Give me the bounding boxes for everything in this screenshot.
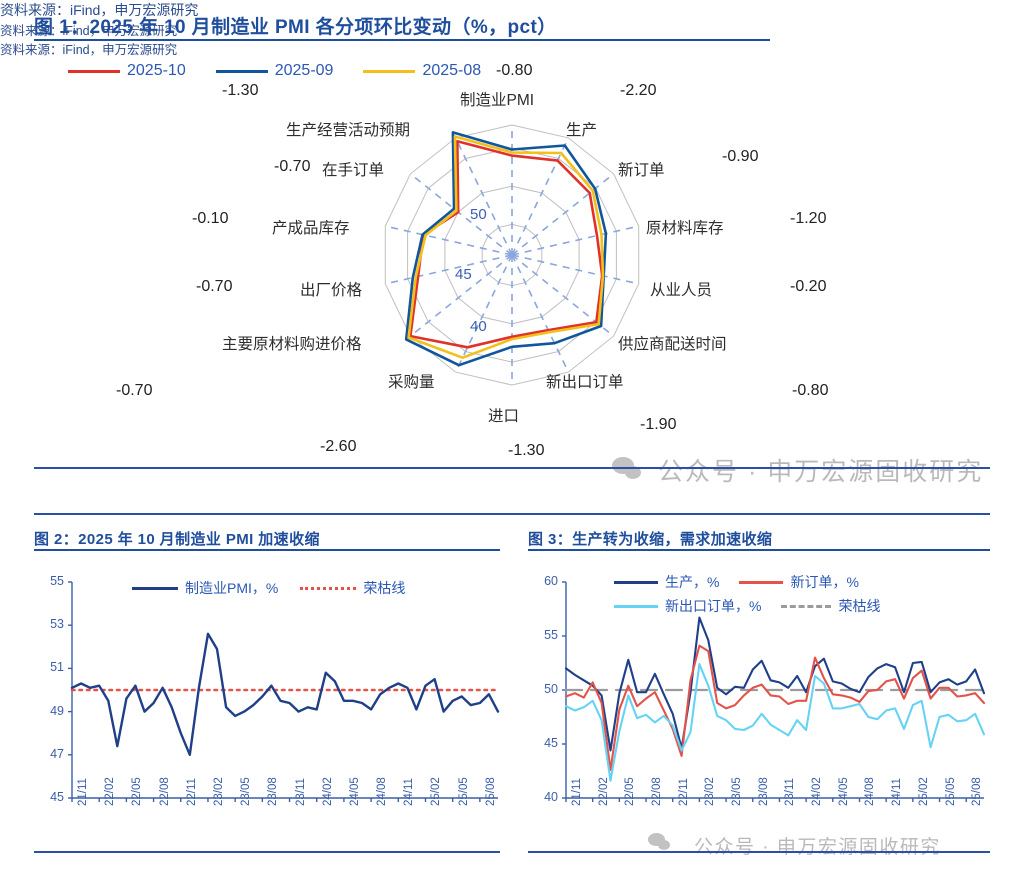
x-tick-label: 25/05: [945, 777, 957, 806]
y-tick-label: 55: [36, 574, 64, 588]
radar-axis-label-13: 生产经营活动预期: [286, 118, 410, 140]
radar-axis-label-2: 新订单: [618, 158, 665, 180]
y-tick-label: 51: [36, 660, 64, 674]
x-tick-label: 25/02: [430, 777, 442, 806]
radar-chart: 504540制造业PMI生产新订单原材料库存从业人员供应商配送时间新出口订单进口…: [0, 70, 1024, 460]
legend-item-荣枯线: 荣枯线: [781, 596, 880, 616]
x-tick-label: 22/05: [624, 777, 636, 806]
radar-axis-label-10: 出厂价格: [300, 278, 362, 300]
x-tick-label: 22/08: [159, 777, 171, 806]
figure3-legend: 生产，%新订单，%新出口订单，%荣枯线: [614, 572, 994, 616]
radar-axis-label-8: 采购量: [388, 370, 435, 392]
x-tick-label: 24/02: [322, 777, 334, 806]
x-tick-label: 23/08: [758, 777, 770, 806]
x-tick-label: 24/11: [891, 778, 903, 806]
x-tick-label: 25/08: [971, 777, 983, 806]
radar-change-value-9: -0.70: [116, 382, 152, 400]
x-tick-label: 24/11: [403, 778, 415, 806]
radar-plot: [0, 70, 1024, 460]
legend-item-生产，%: 生产，%: [614, 572, 719, 592]
figure1-title-block: 图 1：2025 年 10 月制造业 PMI 各分项环比变动（%，pct）: [34, 12, 770, 41]
radar-change-value-12: -0.70: [274, 158, 310, 176]
x-tick-label: 22/02: [104, 777, 116, 806]
figure3-title-block: 图 3：生产转为收缩，需求加速收缩: [528, 528, 990, 551]
radar-axis-label-5: 供应商配送时间: [618, 332, 727, 354]
radar-axis-label-7: 进口: [488, 404, 519, 426]
figure3-title: 图 3：生产转为收缩，需求加速收缩: [528, 528, 990, 551]
radar-axis-label-1: 生产: [566, 118, 597, 140]
legend-item-制造业PMI，%: 制造业PMI，%: [132, 578, 278, 598]
y-tick-label: 49: [36, 704, 64, 718]
radar-ring-label-45: 45: [455, 266, 472, 283]
figure1-title: 图 1：2025 年 10 月制造业 PMI 各分项环比变动（%，pct）: [34, 12, 770, 41]
divider-figure2: [34, 851, 500, 853]
figure2-title-block: 图 2：2025 年 10 月制造业 PMI 加速收缩: [34, 528, 500, 551]
x-tick-label: 24/08: [376, 777, 388, 806]
x-tick-label: 23/02: [213, 777, 225, 806]
x-tick-label: 25/08: [485, 777, 497, 806]
x-tick-label: 23/11: [784, 778, 796, 806]
divider-figure1: [34, 467, 990, 469]
x-tick-label: 23/11: [295, 778, 307, 806]
y-tick-label: 45: [530, 736, 558, 750]
legend-item-荣枯线: 荣枯线: [300, 578, 405, 598]
legend-label: 新出口订单，%: [665, 596, 761, 616]
legend-label: 生产，%: [665, 572, 719, 592]
radar-axis-label-11: 产成品库存: [272, 216, 350, 238]
divider-figure3: [528, 851, 990, 853]
radar-change-value-7: -1.30: [508, 442, 544, 460]
divider-below-source1: [34, 513, 990, 515]
legend-swatch-icon: [300, 587, 356, 590]
legend-label: 荣枯线: [363, 578, 405, 598]
x-tick-label: 23/08: [267, 777, 279, 806]
x-tick-label: 23/05: [240, 777, 252, 806]
x-tick-label: 22/02: [598, 777, 610, 806]
radar-change-value-6: -1.90: [640, 416, 676, 434]
radar-change-value-11: -0.10: [192, 210, 228, 228]
radar-change-value-10: -0.70: [196, 278, 232, 296]
legend-swatch-icon: [614, 605, 658, 608]
y-tick-label: 45: [36, 790, 64, 804]
x-tick-label: 22/08: [651, 777, 663, 806]
x-tick-label: 24/02: [811, 777, 823, 806]
legend-label: 制造业PMI，%: [185, 578, 278, 598]
x-tick-label: 22/11: [678, 778, 690, 806]
radar-axis-label-0: 制造业PMI: [460, 88, 534, 110]
radar-change-value-5: -0.80: [792, 382, 828, 400]
legend-swatch-icon: [781, 605, 831, 608]
x-tick-label: 23/02: [704, 777, 716, 806]
y-tick-label: 47: [36, 747, 64, 761]
x-tick-label: 23/05: [731, 777, 743, 806]
radar-ring-label-40: 40: [470, 318, 487, 335]
legend-label: 荣枯线: [838, 596, 880, 616]
x-tick-label: 22/11: [186, 778, 198, 806]
radar-change-value-8: -2.60: [320, 438, 356, 456]
x-tick-label: 21/11: [571, 778, 583, 806]
radar-axis-label-6: 新出口订单: [546, 370, 624, 392]
y-tick-label: 40: [530, 790, 558, 804]
y-tick-label: 53: [36, 617, 64, 631]
legend-swatch-icon: [132, 587, 178, 590]
x-tick-label: 24/08: [864, 777, 876, 806]
radar-axis-label-12: 在手订单: [322, 158, 384, 180]
radar-change-value-13: -1.30: [222, 82, 258, 100]
y-tick-label: 55: [530, 628, 558, 642]
y-tick-label: 50: [530, 682, 558, 696]
radar-change-value-2: -0.90: [722, 148, 758, 166]
legend-swatch-icon: [614, 581, 658, 584]
x-tick-label: 25/02: [918, 777, 930, 806]
figure2-chart: 45474951535521/1122/0222/0522/0822/1123/…: [36, 570, 506, 860]
x-tick-label: 24/05: [838, 777, 850, 806]
legend-label: 新订单，%: [790, 572, 858, 592]
figure2-title: 图 2：2025 年 10 月制造业 PMI 加速收缩: [34, 528, 500, 551]
radar-axis-label-9: 主要原材料购进价格: [222, 332, 362, 354]
radar-axis-label-4: 从业人员: [650, 278, 712, 300]
legend-item-新出口订单，%: 新出口订单，%: [614, 596, 761, 616]
x-tick-label: 25/05: [458, 777, 470, 806]
radar-change-value-4: -0.20: [790, 278, 826, 296]
radar-axis-label-3: 原材料库存: [646, 216, 724, 238]
figure2-plot: [36, 570, 506, 860]
legend-swatch-icon: [739, 581, 783, 584]
radar-ring-label-50: 50: [470, 206, 487, 223]
figure3-source: 资料来源：iFind，申万宏源研究: [0, 39, 1024, 58]
legend-item-新订单，%: 新订单，%: [739, 572, 858, 592]
x-tick-label: 22/05: [131, 777, 143, 806]
figure3-chart: 404550556021/1122/0222/0522/0822/1123/02…: [530, 570, 992, 860]
figure2-legend: 制造业PMI，%荣枯线: [132, 578, 405, 598]
x-tick-label: 24/05: [349, 777, 361, 806]
radar-change-value-1: -2.20: [620, 82, 656, 100]
radar-change-value-3: -1.20: [790, 210, 826, 228]
radar-change-value-0: -0.80: [496, 62, 532, 80]
x-tick-label: 21/11: [77, 778, 89, 806]
y-tick-label: 60: [530, 574, 558, 588]
